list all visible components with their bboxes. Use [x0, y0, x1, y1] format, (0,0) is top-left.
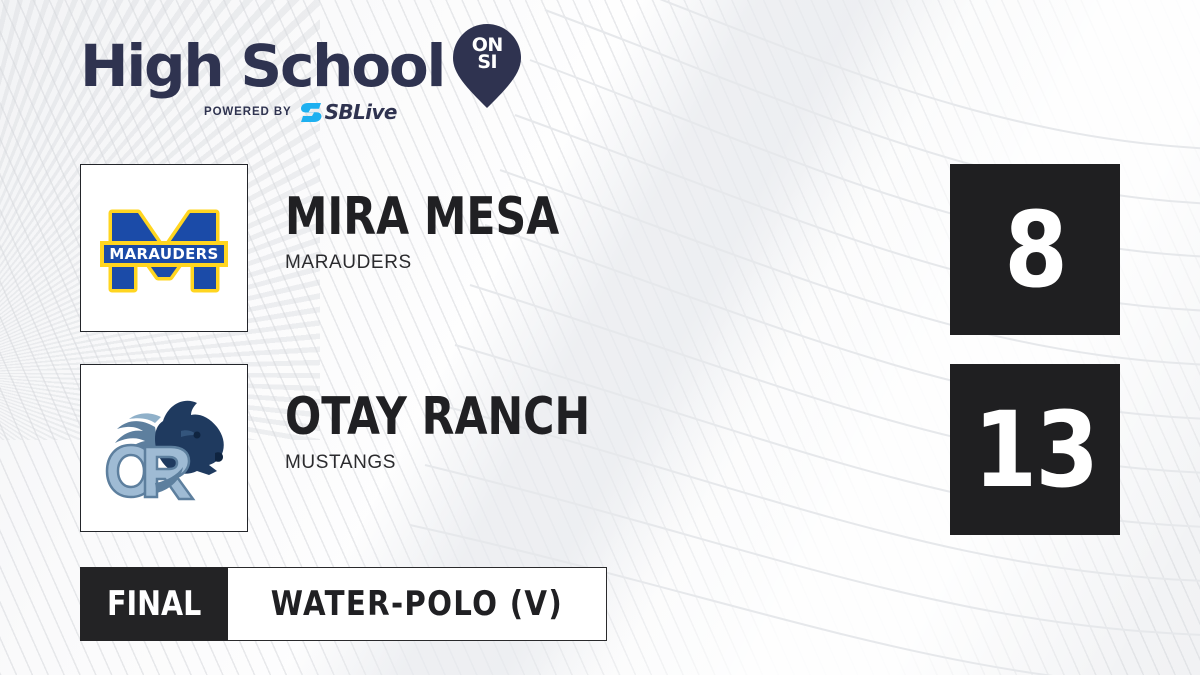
sblive-wordmark: SBLive: [325, 102, 397, 122]
game-status-label: FINAL: [107, 584, 201, 624]
on-si-pin-icon: ON SI: [453, 24, 521, 108]
brand-wordmark-row: High School ON SI: [80, 33, 560, 99]
team-text-block: OTAY RANCH MUSTANGS: [285, 390, 985, 474]
score-box: 8: [950, 164, 1120, 335]
score-box: 13: [950, 364, 1120, 535]
score-value: 13: [973, 398, 1097, 502]
otay-ranch-mustangs-logo: [80, 364, 248, 532]
pin-line-si: SI: [453, 54, 521, 71]
team-text-block: MIRA MESA MARAUDERS: [285, 190, 985, 274]
sport-label-panel: WATER-POLO (V): [228, 567, 607, 641]
on-si-pin-label: ON SI: [453, 37, 521, 71]
sblive-s-icon: [301, 103, 323, 122]
mira-mesa-marauders-logo: MARAUDERS: [80, 164, 248, 332]
team-name: MIRA MESA: [285, 190, 859, 244]
powered-by-label: POWERED BY: [204, 106, 292, 118]
team-name: OTAY RANCH: [285, 390, 859, 444]
team-mascot: MUSTANGS: [285, 452, 985, 474]
scoreboard-graphic: High School ON SI POWERED BY SBLive: [0, 0, 1200, 675]
score-value: 8: [1004, 198, 1066, 302]
brand-wordmark: High School: [80, 37, 444, 95]
status-bar: FINAL WATER-POLO (V): [80, 567, 607, 641]
sport-label: WATER-POLO (V): [271, 584, 563, 624]
team-mascot: MARAUDERS: [285, 252, 985, 274]
game-status-badge: FINAL: [80, 567, 228, 641]
svg-text:MARAUDERS: MARAUDERS: [109, 245, 218, 263]
brand-logo: High School ON SI POWERED BY SBLive: [80, 33, 560, 133]
